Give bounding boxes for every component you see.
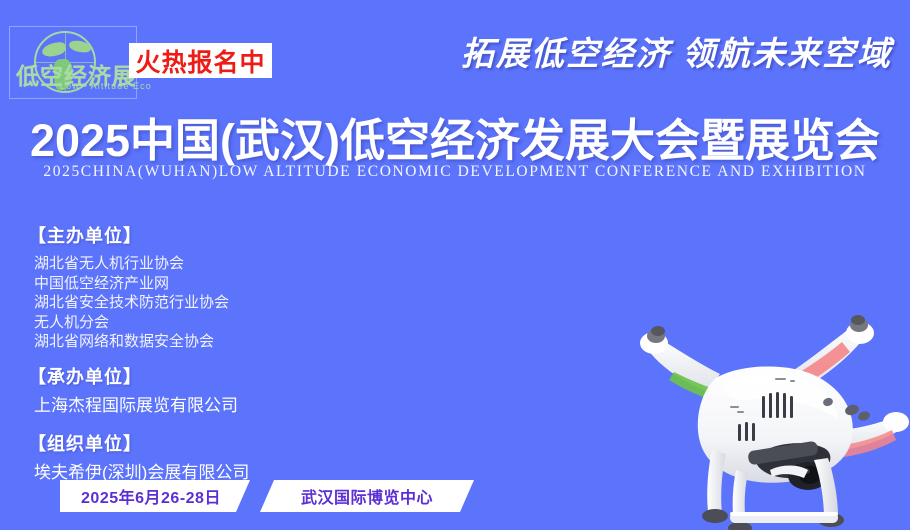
globe-landmass	[68, 40, 91, 53]
organizer-heading: 【组织单位】	[28, 430, 448, 456]
globe-landmass	[41, 41, 67, 57]
quadcopter-drone-icon	[612, 300, 910, 530]
list-item: 湖北省网络和数据安全协会	[34, 332, 448, 352]
undertaker-heading: 【承办单位】	[28, 363, 448, 389]
tagline: 拓展低空经济 领航未来空域	[461, 27, 892, 75]
list-item: 湖北省安全技术防范行业协会	[34, 293, 448, 313]
list-item: 中国低空经济产业网	[34, 274, 448, 294]
event-venue-banner: 武汉国际博览中心	[260, 480, 474, 512]
logo-english-text: Low - Altitude Eco	[60, 81, 152, 91]
host-heading: 【主办单位】	[28, 222, 448, 248]
info-banner-row: 2025年6月26-28日 武汉国际博览中心	[60, 480, 474, 512]
undertaker-name: 上海杰程国际展览有限公司	[28, 395, 448, 417]
registration-badge[interactable]: 火热报名中	[129, 43, 272, 78]
host-list: 湖北省无人机行业协会 中国低空经济产业网 湖北省安全技术防范行业协会 无人机分会…	[28, 254, 448, 352]
list-item: 湖北省无人机行业协会	[34, 254, 448, 274]
list-item: 无人机分会	[34, 313, 448, 333]
organizer-block: 【主办单位】 湖北省无人机行业协会 中国低空经济产业网 湖北省安全技术防范行业协…	[28, 222, 448, 497]
event-logo: 低空经济展 Low - Altitude Eco	[9, 26, 137, 99]
event-date-label: 2025年6月26-28日	[81, 484, 221, 508]
event-date-banner: 2025年6月26-28日	[60, 480, 250, 512]
registration-badge-label: 火热报名中	[135, 43, 265, 79]
poster-canvas: 低空经济展 Low - Altitude Eco 火热报名中 拓展低空经济 领航…	[0, 0, 910, 530]
event-venue-label: 武汉国际博览中心	[301, 484, 433, 508]
page-subtitle-english: 2025CHINA(WUHAN)LOW ALTITUDE ECONOMIC DE…	[0, 163, 910, 181]
page-title: 2025中国(武汉)低空经济发展大会暨展览会	[0, 104, 910, 169]
